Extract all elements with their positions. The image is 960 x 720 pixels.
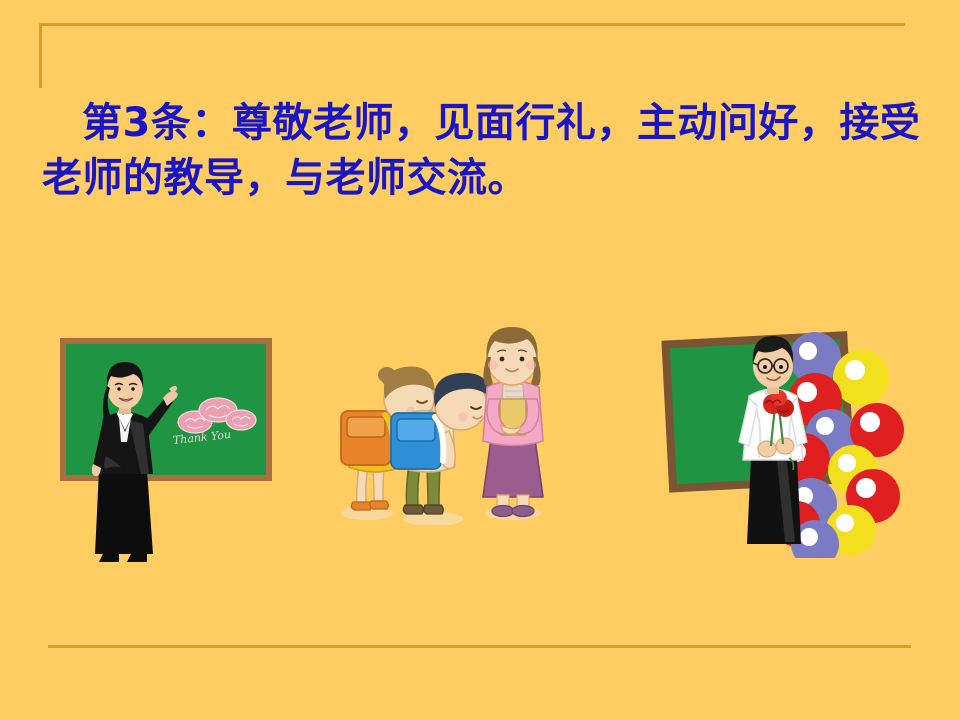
- teacher-figure-left: [69, 358, 179, 566]
- top-horizontal-rule: [39, 23, 905, 26]
- illustration-students-bowing: [325, 325, 575, 525]
- slide-title: 第3条：尊敬老师，见面行礼，主动问好，接受老师的教导，与老师交流。: [42, 96, 932, 206]
- teacher-figure-middle: [483, 327, 543, 517]
- illustration-teacher-balloons: [655, 318, 905, 558]
- students-bowing-scene: [325, 325, 575, 525]
- bottom-horizontal-rule: [48, 645, 911, 648]
- illustration-teacher-chalkboard: Thank You: [55, 330, 275, 575]
- slide-title-text: 第3条：尊敬老师，见面行礼，主动问好，接受老师的教导，与老师交流。: [42, 100, 920, 201]
- teacher-balloons-scene: [655, 318, 905, 558]
- top-left-vertical-rule: [39, 23, 42, 88]
- presentation-slide: 第3条：尊敬老师，见面行礼，主动问好，接受老师的教导，与老师交流。 Thank …: [0, 0, 960, 720]
